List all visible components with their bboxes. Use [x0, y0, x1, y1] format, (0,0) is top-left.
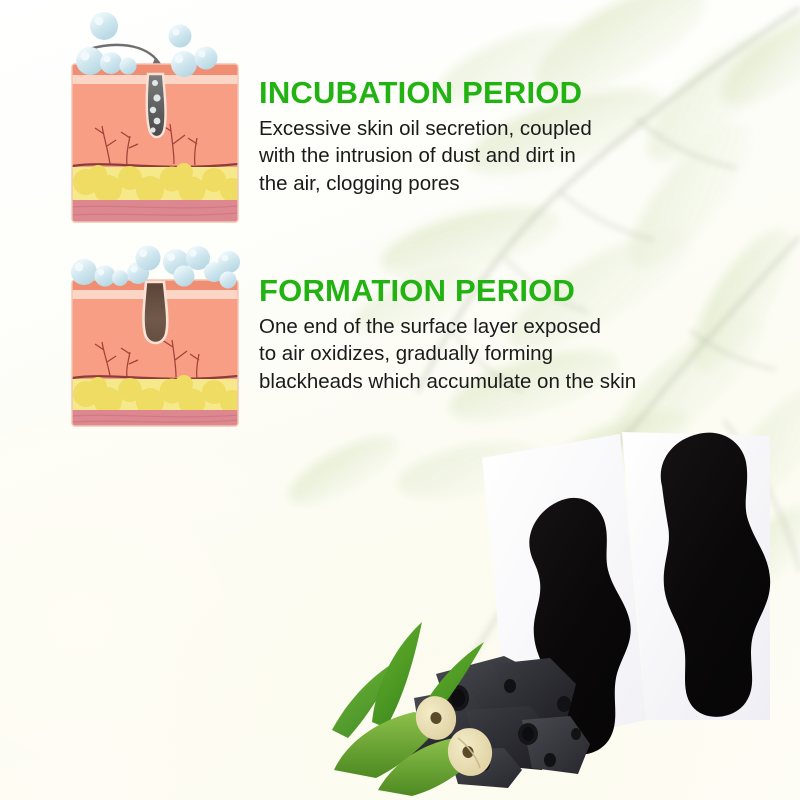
ingredients-bamboo-charcoal — [318, 612, 598, 800]
section-title-incubation: INCUBATION PERIOD — [259, 77, 679, 110]
body-line: the air, clogging pores — [259, 170, 679, 198]
clogged-pore — [147, 74, 166, 137]
section-body-incubation: Excessive skin oil secretion, coupled wi… — [259, 115, 679, 199]
skin-diagram-formation — [64, 238, 246, 430]
blackhead-plug — [143, 282, 167, 343]
skin-diagram-incubation — [64, 4, 246, 226]
section-formation: FORMATION PERIOD One end of the surface … — [259, 275, 709, 396]
section-title-formation: FORMATION PERIOD — [259, 275, 709, 308]
body-line: Excessive skin oil secretion, coupled — [259, 115, 679, 143]
body-line: to air oxidizes, gradually forming — [259, 340, 709, 368]
body-line: blackheads which accumulate on the skin — [259, 368, 709, 396]
product-infographic: INCUBATION PERIOD Excessive skin oil sec… — [0, 0, 800, 800]
bubble-group-floating — [90, 12, 192, 48]
section-body-formation: One end of the surface layer exposed to … — [259, 313, 709, 397]
body-line: One end of the surface layer exposed — [259, 313, 709, 341]
section-incubation: INCUBATION PERIOD Excessive skin oil sec… — [259, 77, 679, 198]
body-line: with the intrusion of dust and dirt in — [259, 142, 679, 170]
